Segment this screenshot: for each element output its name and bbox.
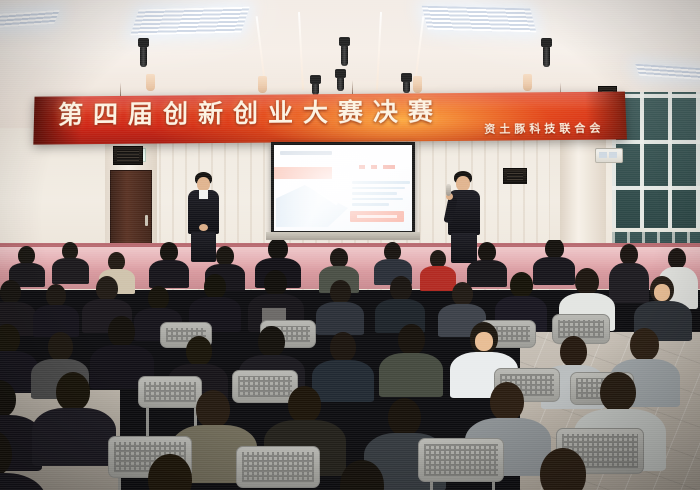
audience-area — [0, 240, 700, 490]
person-head — [330, 332, 356, 362]
track-light-icon — [140, 45, 147, 67]
person-head — [186, 336, 212, 366]
person-shoulders — [312, 360, 374, 402]
person-head — [560, 336, 587, 367]
person-head — [330, 280, 351, 304]
event-photograph: 第四届创新创业大赛决赛 资土豚科技联合会 — [0, 0, 700, 490]
door-handle — [145, 215, 148, 226]
person-head — [388, 398, 421, 436]
person-head — [575, 268, 599, 295]
microphone-icon — [446, 184, 451, 196]
slide-photo — [276, 185, 348, 227]
presenter-hands — [199, 224, 208, 231]
slide-accent-bar — [274, 167, 332, 179]
banner-wire — [120, 82, 121, 96]
person-shoulders — [316, 302, 364, 335]
person-head — [46, 284, 66, 307]
pendant-lamp-icon — [258, 76, 267, 93]
person-head — [0, 280, 21, 304]
person-shoulders — [379, 353, 443, 397]
presenter-collar — [199, 190, 208, 199]
slide-header-text — [280, 151, 332, 155]
person-shoulders — [467, 260, 507, 287]
slide-title-dots — [359, 165, 395, 169]
pendant-lamp-icon — [146, 74, 155, 91]
person-face — [475, 332, 493, 351]
person-head — [160, 242, 178, 262]
track-light-icon — [403, 80, 410, 93]
presenter-head — [456, 176, 470, 191]
person-head — [510, 272, 533, 298]
event-banner: 第四届创新创业大赛决赛 资土豚科技联合会 — [33, 92, 627, 145]
person-shoulders — [149, 260, 189, 288]
person-head — [452, 282, 473, 306]
wall-speaker-icon — [503, 168, 527, 184]
track-light-icon — [543, 45, 550, 67]
person-shoulders — [52, 258, 89, 284]
person-head — [204, 274, 226, 299]
wall-speaker-icon — [113, 146, 143, 165]
person-head — [258, 326, 285, 357]
person-head — [288, 386, 321, 423]
person-shoulders — [420, 266, 456, 291]
person-head — [56, 372, 90, 411]
person-head — [268, 240, 288, 260]
ceiling-panel-light — [130, 7, 250, 36]
person-head — [620, 244, 638, 265]
person-face — [654, 284, 670, 301]
person-head — [330, 248, 348, 268]
track-light-icon — [312, 82, 319, 95]
screen-shelf — [266, 232, 420, 240]
person-shoulders — [32, 408, 116, 466]
projected-slide — [274, 145, 412, 231]
person-head — [630, 328, 659, 361]
chair-leg — [430, 482, 433, 490]
presenter-head — [197, 177, 210, 191]
chair-backrest — [236, 446, 320, 488]
chair-backrest — [418, 438, 504, 482]
chair-leg — [492, 482, 495, 490]
person-shoulders — [533, 257, 575, 285]
chair-leg — [146, 408, 149, 438]
banner-wire — [352, 80, 353, 94]
banner-subtitle-text: 资土豚科技联合会 — [484, 120, 605, 137]
person-head — [264, 270, 287, 296]
person-head — [108, 316, 135, 347]
emergency-light-icon — [595, 148, 623, 163]
projector-screen — [271, 142, 415, 234]
person-head — [96, 276, 118, 301]
person-head — [148, 286, 169, 310]
person-head — [0, 324, 20, 354]
person-head — [398, 324, 425, 355]
slide-body-text — [352, 181, 410, 209]
pendant-lamp-icon — [413, 76, 422, 93]
person-head — [490, 382, 524, 421]
track-light-icon — [341, 44, 348, 66]
chair-backrest — [138, 376, 202, 408]
person-head — [478, 242, 496, 262]
person-shoulders — [609, 263, 649, 303]
ceiling-panel-light — [421, 6, 536, 33]
track-light-icon — [337, 76, 344, 91]
pendant-lamp-icon — [523, 74, 532, 91]
person-head — [196, 390, 230, 428]
person-head — [48, 332, 73, 361]
person-head — [216, 246, 234, 266]
person-head — [390, 276, 412, 301]
person-head — [600, 372, 636, 412]
slide-callout-button — [350, 211, 404, 222]
person-head — [668, 248, 686, 269]
chair-leg — [118, 478, 121, 490]
